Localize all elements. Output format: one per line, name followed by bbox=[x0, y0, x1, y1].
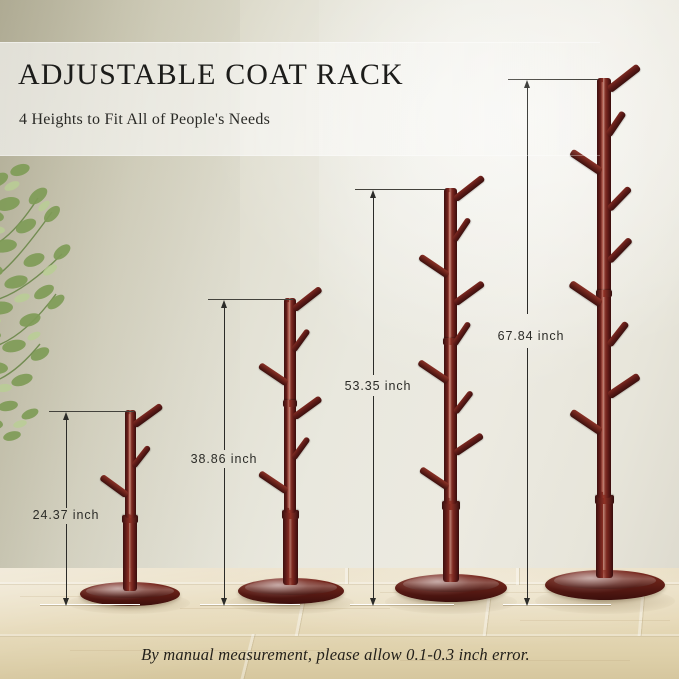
rack-2-dim-line-upper bbox=[224, 306, 225, 450]
rack-1-ext-bottom bbox=[40, 604, 140, 605]
rack-3-dim-line-lower bbox=[373, 396, 374, 600]
rack-1-lower-post bbox=[123, 519, 137, 591]
rack-2-lower-post bbox=[283, 515, 298, 585]
rack-4-joint-mid bbox=[596, 290, 612, 297]
rack-1-arrow-bottom bbox=[63, 598, 69, 606]
page-title: ADJUSTABLE COAT RACK bbox=[18, 58, 404, 92]
rack-2-ext-bottom bbox=[200, 604, 300, 605]
rack-1-dimension-label: 24.37 inch bbox=[28, 507, 105, 523]
decorative-plant bbox=[0, 152, 104, 452]
rack-4-lower-post bbox=[596, 500, 613, 578]
rack-3-arrow-bottom bbox=[370, 598, 376, 606]
rack-3-ext-top bbox=[355, 189, 445, 190]
measurement-disclaimer: By manual measurement, please allow 0.1-… bbox=[0, 645, 679, 665]
rack-1-dim-line-upper bbox=[66, 418, 67, 508]
rack-2-arrow-top bbox=[221, 300, 227, 308]
rack-3-dim-line-upper bbox=[373, 196, 374, 375]
rack-3-dimension-label: 53.35 inch bbox=[340, 378, 417, 394]
rack-2-post-highlight bbox=[287, 302, 290, 508]
rack-2-dim-line-lower bbox=[224, 468, 225, 600]
rack-1-arrow-top bbox=[63, 412, 69, 420]
rack-1-dim-line-lower bbox=[66, 524, 67, 600]
rack-1-ext-top bbox=[49, 411, 134, 412]
rack-4-dimension-label: 67.84 inch bbox=[493, 328, 570, 344]
rack-3-ext-bottom bbox=[350, 604, 454, 605]
rack-3-post-highlight bbox=[448, 192, 451, 498]
rack-2-arrow-bottom bbox=[221, 598, 227, 606]
rack-3-arrow-top bbox=[370, 190, 376, 198]
rack-4-ext-bottom bbox=[503, 604, 611, 605]
product-infographic: 24.37 inch 38.86 inch bbox=[0, 0, 679, 679]
page-subtitle: 4 Heights to Fit All of People's Needs bbox=[19, 111, 270, 129]
rack-2-dimension-label: 38.86 inch bbox=[186, 451, 263, 467]
rack-2-joint-mid bbox=[283, 400, 297, 407]
rack-4-arrow-bottom bbox=[524, 598, 530, 606]
rack-3-lower-post bbox=[443, 506, 459, 582]
rack-4-dim-line-lower bbox=[527, 348, 528, 600]
